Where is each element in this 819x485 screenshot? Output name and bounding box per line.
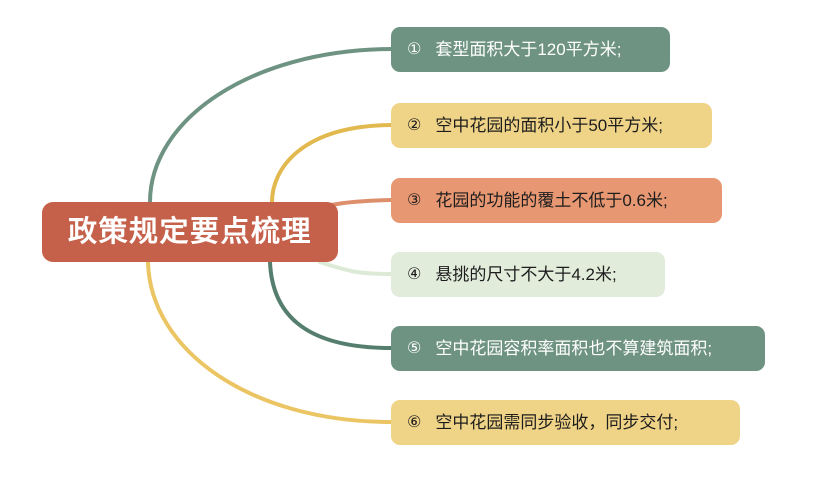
central-node[interactable]: 政策规定要点梳理 [42, 202, 338, 262]
connector-line-1 [150, 49, 391, 202]
branch-index-2: ② [407, 118, 421, 134]
connector-line-2 [272, 125, 391, 202]
branch-node-1[interactable]: ① 套型面积大于120平方米; [391, 27, 670, 72]
branch-index-4: ④ [407, 267, 421, 283]
branch-label-1: 套型面积大于120平方米; [435, 41, 621, 58]
connector-line-4 [320, 262, 391, 274]
mindmap-canvas: 政策规定要点梳理 ① 套型面积大于120平方米; ② 空中花园的面积小于50平方… [0, 0, 819, 485]
central-node-label: 政策规定要点梳理 [68, 218, 312, 247]
branch-label-5: 空中花园容积率面积也不算建筑面积; [435, 340, 712, 357]
branch-node-3[interactable]: ③ 花园的功能的覆土不低于0.6米; [391, 178, 722, 223]
connector-line-6 [148, 262, 391, 422]
branch-index-6: ⑥ [407, 415, 421, 431]
branch-index-3: ③ [407, 193, 421, 209]
connector-line-5 [270, 262, 391, 348]
branch-index-1: ① [407, 42, 421, 58]
branch-index-5: ⑤ [407, 341, 421, 357]
branch-node-5[interactable]: ⑤ 空中花园容积率面积也不算建筑面积; [391, 326, 765, 371]
branch-node-6[interactable]: ⑥ 空中花园需同步验收，同步交付; [391, 400, 740, 445]
branch-node-2[interactable]: ② 空中花园的面积小于50平方米; [391, 103, 712, 148]
branch-label-4: 悬挑的尺寸不大于4.2米; [435, 266, 616, 283]
branch-label-3: 花园的功能的覆土不低于0.6米; [435, 192, 667, 209]
branch-label-6: 空中花园需同步验收，同步交付; [435, 414, 678, 431]
branch-node-4[interactable]: ④ 悬挑的尺寸不大于4.2米; [391, 252, 665, 297]
branch-label-2: 空中花园的面积小于50平方米; [435, 117, 663, 134]
